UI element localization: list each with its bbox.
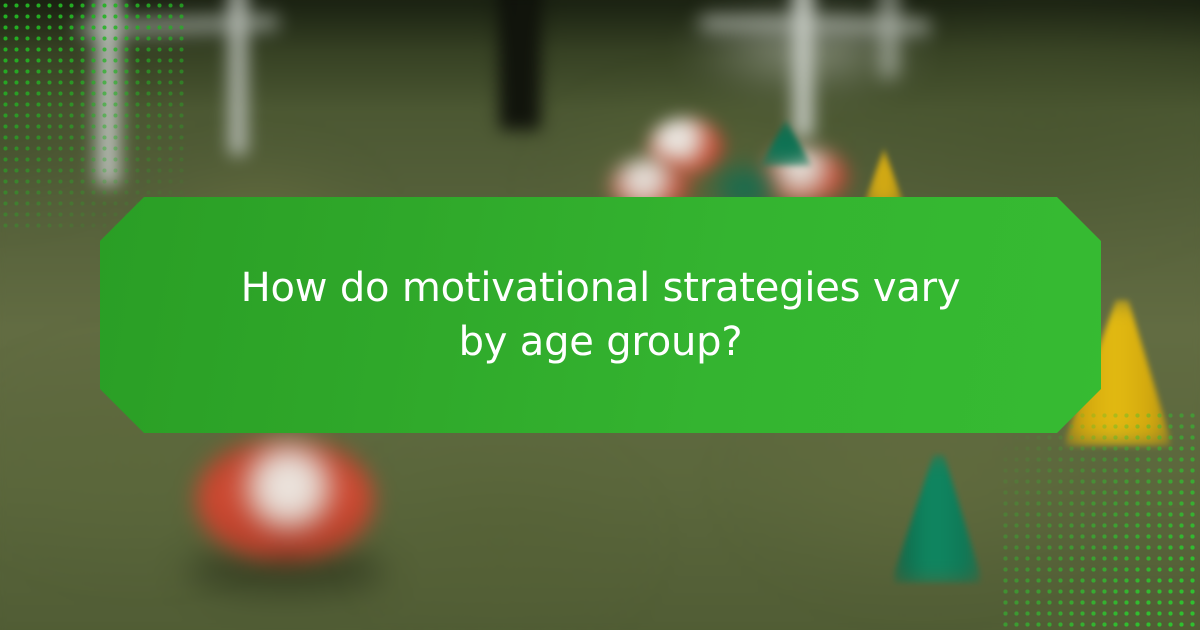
- title-banner: How do motivational strategies vary by a…: [100, 197, 1101, 433]
- soccer-ball-icon: [196, 437, 374, 561]
- goal-post-left-inner-icon: [228, 0, 248, 155]
- goal-post-right-outer-icon: [880, 0, 898, 78]
- goal-post-left-icon: [95, 0, 121, 185]
- goal-post-right-icon: [792, 0, 814, 138]
- dark-pole-icon: [500, 0, 540, 130]
- banner-title-text: How do motivational strategies vary by a…: [221, 261, 981, 369]
- poster-canvas: How do motivational strategies vary by a…: [0, 0, 1200, 630]
